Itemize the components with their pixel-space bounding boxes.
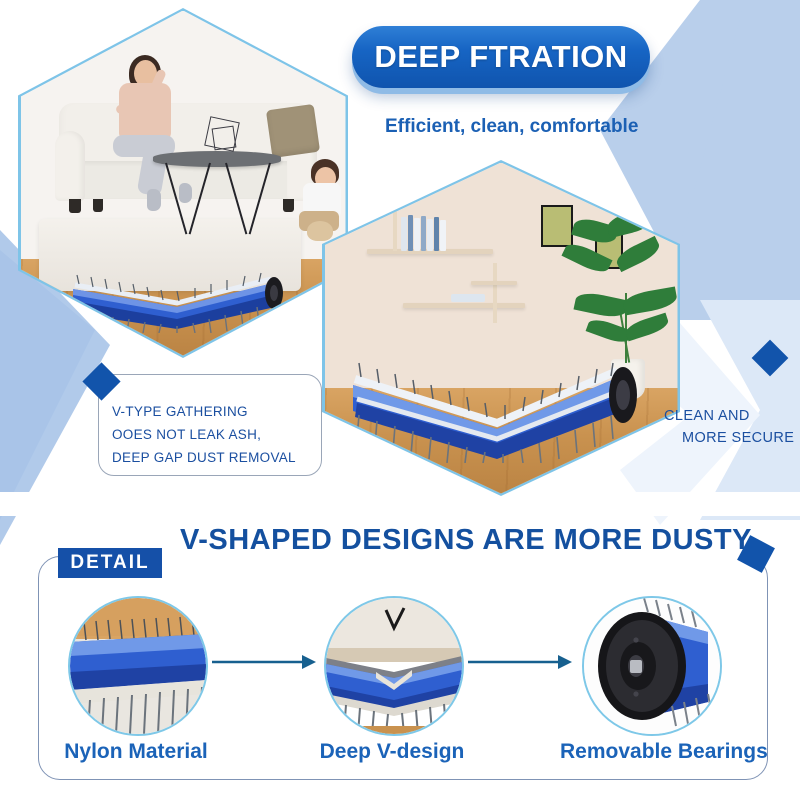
page-title-banner: DEEP FTRATION	[352, 26, 650, 88]
callout-right-text: CLEAN AND MORE SECURE	[664, 406, 794, 450]
detail-badge: DETAIL	[58, 548, 162, 578]
product-infographic: DEEP FTRATION Efficient, clean, comforta…	[0, 0, 800, 800]
detail-caption-2: Deep V-design	[304, 740, 480, 764]
callout-left-line-3: DEEP GAP DUST REMOVAL	[112, 446, 322, 469]
callout-right-line-1: CLEAN AND	[664, 406, 794, 428]
detail-caption-1: Nylon Material	[48, 740, 224, 764]
page-title: DEEP FTRATION	[374, 39, 627, 75]
detail-badge-label: DETAIL	[70, 552, 149, 574]
callout-left-line-2: OOES NOT LEAK ASH,	[112, 423, 322, 446]
page-subtitle: Efficient, clean, comfortable	[385, 116, 638, 138]
arrow-right-icon	[468, 652, 572, 672]
detail-image-nylon	[68, 596, 208, 736]
callout-right-line-2: MORE SECURE	[664, 428, 794, 450]
detail-image-deep-v	[324, 596, 464, 736]
detail-heading: V-SHAPED DESIGNS ARE MORE DUSTY	[180, 524, 752, 557]
arrow-right-icon	[212, 652, 316, 672]
detail-image-bearings	[582, 596, 722, 736]
detail-caption-3: Removable Bearings	[560, 740, 760, 764]
callout-left-text: V-TYPE GATHERING OOES NOT LEAK ASH, DEEP…	[112, 400, 322, 470]
callout-left-line-1: V-TYPE GATHERING	[112, 400, 322, 423]
